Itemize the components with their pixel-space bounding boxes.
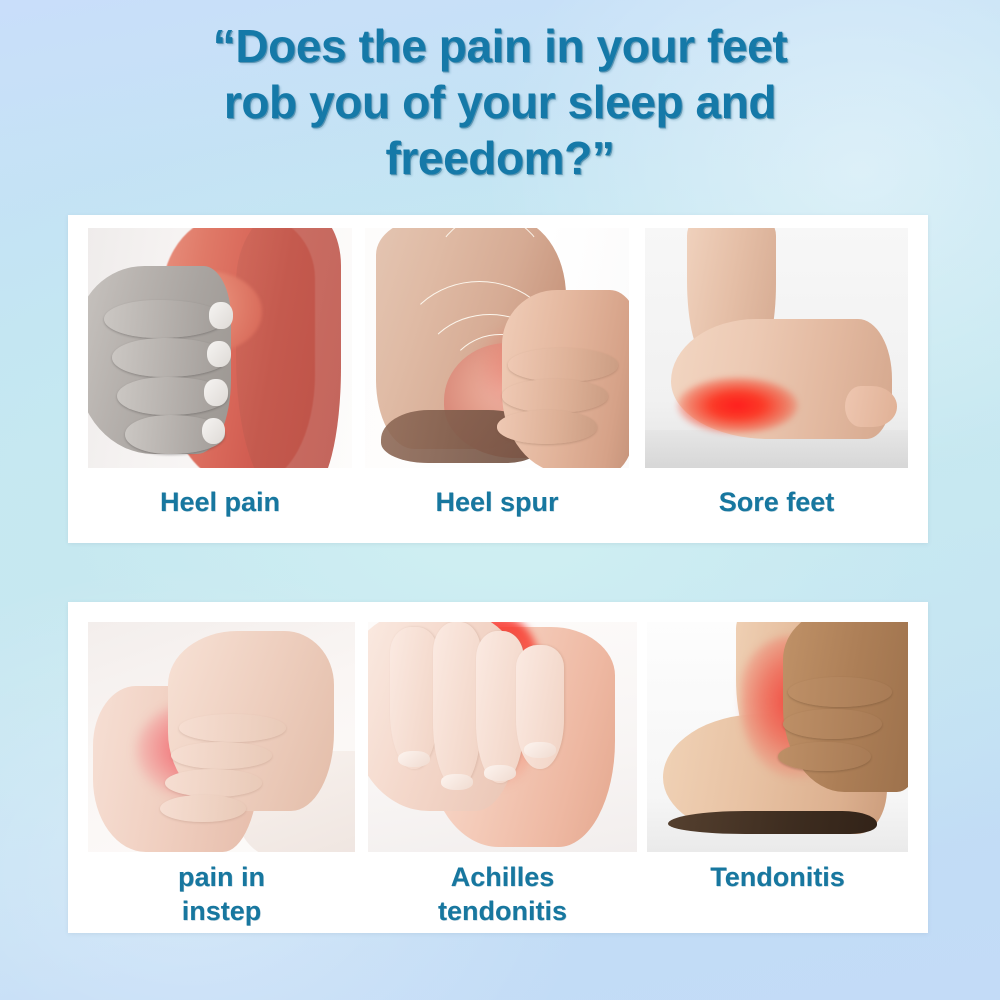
sole-shadow: [668, 811, 877, 834]
fingernail-2: [207, 341, 231, 367]
sore-feet-photo: [645, 228, 908, 468]
finger-1: [508, 348, 619, 382]
card-row-1: Heel pain Heel spur Sore feet: [68, 215, 928, 543]
finger-2: [171, 742, 272, 770]
finger-3: [165, 769, 261, 797]
caption-achilles-tendonitis: Achilles tendonitis: [368, 860, 637, 928]
fingernail-4: [202, 418, 226, 444]
caption-sore-feet: Sore feet: [645, 485, 908, 519]
fingernail-2: [441, 774, 473, 790]
fingernail-3: [204, 379, 228, 405]
fingernail-4: [524, 742, 556, 758]
toes-shape: [845, 386, 898, 427]
caption-tendonitis: Tendonitis: [647, 860, 908, 894]
caption-heel-spur: Heel spur: [365, 485, 629, 519]
poster-root: “Does the pain in your feet rob you of y…: [0, 0, 1000, 1000]
heel-pain-photo: [88, 228, 352, 468]
fingernail-1: [398, 751, 430, 767]
fingernail-3: [484, 765, 516, 781]
finger-1: [788, 677, 892, 707]
finger-1: [179, 714, 286, 742]
fingernail-1: [209, 302, 233, 328]
caption-pain-in-instep: pain in instep: [88, 860, 355, 928]
card-row-2: pain in instep Achilles tendonitis Tendo…: [68, 602, 928, 933]
pain-in-instep-photo: [88, 622, 355, 852]
finger-2: [433, 622, 481, 788]
finger-3: [497, 410, 597, 444]
achilles-tendonitis-photo: [368, 622, 637, 852]
page-title: “Does the pain in your feet rob you of y…: [60, 18, 940, 186]
second-leg-shape: [236, 228, 342, 468]
finger-1: [390, 627, 438, 770]
finger-4: [160, 795, 245, 823]
caption-heel-pain: Heel pain: [88, 485, 352, 519]
tendonitis-photo: [647, 622, 908, 852]
heel-spur-photo: [365, 228, 629, 468]
finger-2: [502, 379, 608, 413]
arch-pain-highlight: [677, 377, 798, 435]
